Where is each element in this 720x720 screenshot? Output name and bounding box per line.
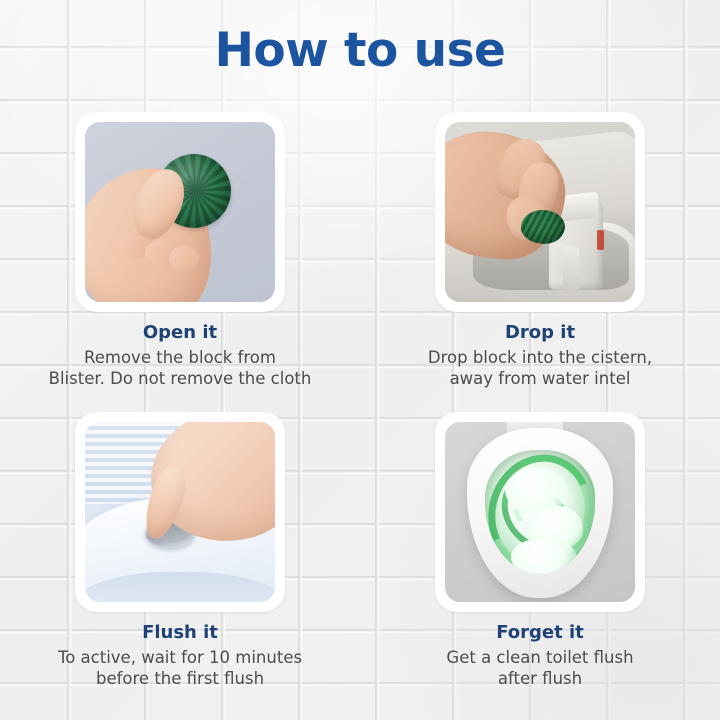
step-2-image-card xyxy=(435,112,645,312)
step-3-image-card xyxy=(75,412,285,612)
step-4-photo-toilet-bowl-green-water xyxy=(445,422,635,602)
step-3-flush-it: Flush it To active, wait for 10 minutes … xyxy=(0,412,360,712)
step-2-caption: Drop it Drop block into the cistern, awa… xyxy=(390,322,690,389)
step-2-drop-it: Drop it Drop block into the cistern, awa… xyxy=(360,112,720,412)
step-3-title: Flush it xyxy=(30,622,330,645)
how-to-use-infographic: How to use Open it Remove the block from… xyxy=(0,0,720,720)
step-1-photo-hand-holding-block xyxy=(85,122,275,302)
step-1-open-it: Open it Remove the block from Blister. D… xyxy=(0,112,360,412)
step-4-title: Forget it xyxy=(390,622,690,645)
foam-patch xyxy=(511,538,577,574)
step-2-description: Drop block into the cistern, away from w… xyxy=(390,347,690,390)
step-2-title: Drop it xyxy=(390,322,690,345)
green-toilet-block xyxy=(521,210,565,244)
step-1-image-card xyxy=(75,112,285,312)
valve-red-marker xyxy=(597,230,604,250)
step-3-description: To active, wait for 10 minutes before th… xyxy=(30,647,330,690)
step-3-photo-pressing-flush-button xyxy=(85,422,275,602)
step-3-caption: Flush it To active, wait for 10 minutes … xyxy=(30,622,330,689)
steps-grid: Open it Remove the block from Blister. D… xyxy=(0,112,720,712)
step-2-photo-dropping-block-in-cistern xyxy=(445,122,635,302)
page-title: How to use xyxy=(0,27,720,74)
step-1-description: Remove the block from Blister. Do not re… xyxy=(30,347,330,390)
step-4-caption: Forget it Get a clean toilet flush after… xyxy=(390,622,690,689)
step-1-title: Open it xyxy=(30,322,330,345)
step-4-forget-it: Forget it Get a clean toilet flush after… xyxy=(360,412,720,712)
step-4-description: Get a clean toilet flush after flush xyxy=(390,647,690,690)
finger-knuckle xyxy=(169,246,199,270)
step-1-caption: Open it Remove the block from Blister. D… xyxy=(30,322,330,389)
step-4-image-card xyxy=(435,412,645,612)
